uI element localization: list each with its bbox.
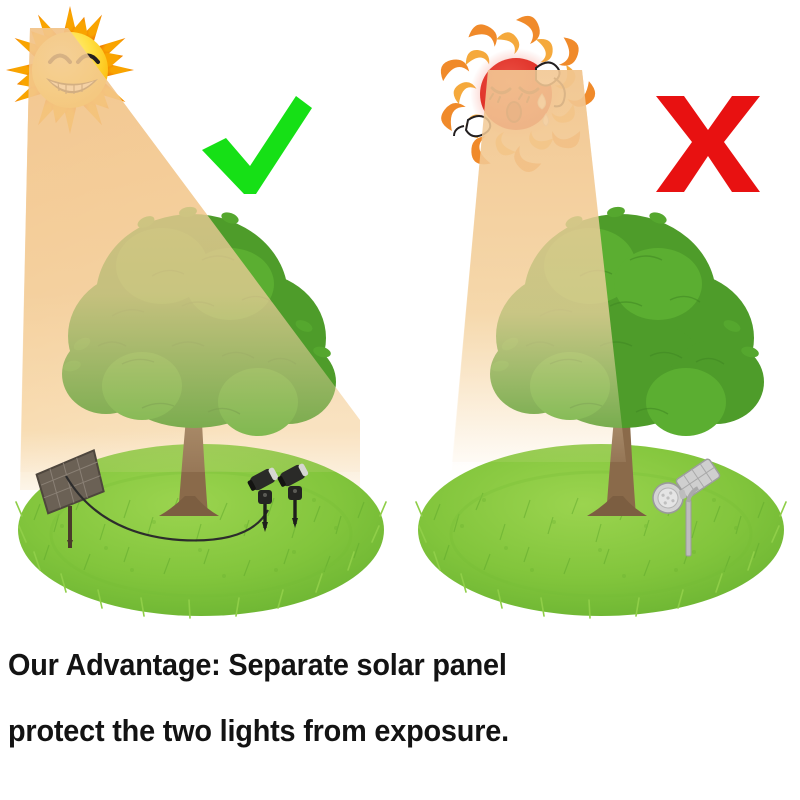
all-in-one-solar-light-icon	[646, 458, 726, 567]
infographic-root: Our Advantage: Separate solar panel prot…	[0, 0, 800, 800]
tree-right	[470, 196, 780, 531]
caption-line-2: protect the two lights from exposure.	[8, 698, 733, 764]
happy-sun-icon	[0, 4, 158, 159]
comparison-panel-right	[400, 0, 800, 630]
red-x-icon	[650, 92, 766, 201]
caption-block: Our Advantage: Separate solar panel prot…	[8, 632, 788, 764]
comparison-panel-left	[0, 0, 400, 630]
spotlight-icon	[274, 460, 318, 537]
hot-sun-icon	[424, 8, 614, 193]
green-check-icon	[196, 94, 316, 203]
caption-line-1: Our Advantage: Separate solar panel	[8, 632, 733, 698]
